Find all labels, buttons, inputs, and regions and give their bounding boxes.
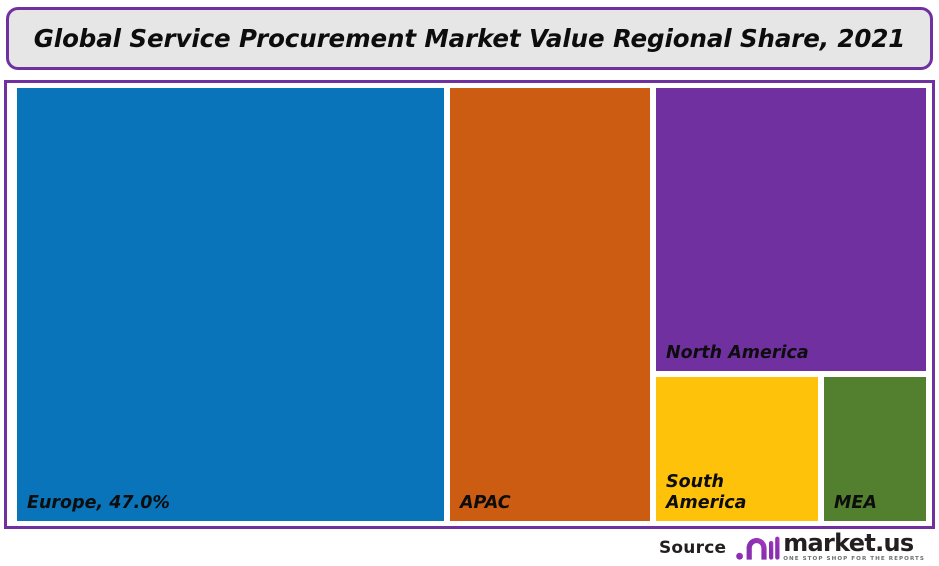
market-us-brand-logo[interactable]: market.us ONE STOP SHOP FOR THE REPORTS [736,532,925,563]
treemap-tile-label-south-america: South America [666,472,746,514]
treemap-tile-label-mea: MEA [834,493,877,514]
treemap-plot-area: Europe, 47.0% APAC North America South A… [7,83,932,526]
treemap-tile-apac[interactable]: APAC [450,88,650,521]
treemap-tile-label-apac: APAC [460,493,511,514]
treemap-tile-label-europe: Europe, 47.0% [27,493,170,514]
brand-wordmark: market.us [783,532,913,554]
treemap-tile-north-america[interactable]: North America [656,88,926,371]
treemap-chart-frame: Europe, 47.0% APAC North America South A… [4,80,935,529]
page-title: Global Service Procurement Market Value … [34,24,905,53]
treemap-tile-europe[interactable]: Europe, 47.0% [17,88,444,521]
market-us-logo-icon [736,534,780,561]
chart-title-banner: Global Service Procurement Market Value … [6,7,933,70]
source-label: Source [659,538,726,558]
source-row: Source market.us ONE STOP SHOP FOR THE R… [0,529,939,566]
brand-tagline: ONE STOP SHOP FOR THE REPORTS [783,555,925,563]
treemap-tile-label-north-america: North America [666,343,809,364]
treemap-tile-south-america[interactable]: South America [656,377,818,521]
treemap-tile-mea[interactable]: MEA [824,377,926,521]
